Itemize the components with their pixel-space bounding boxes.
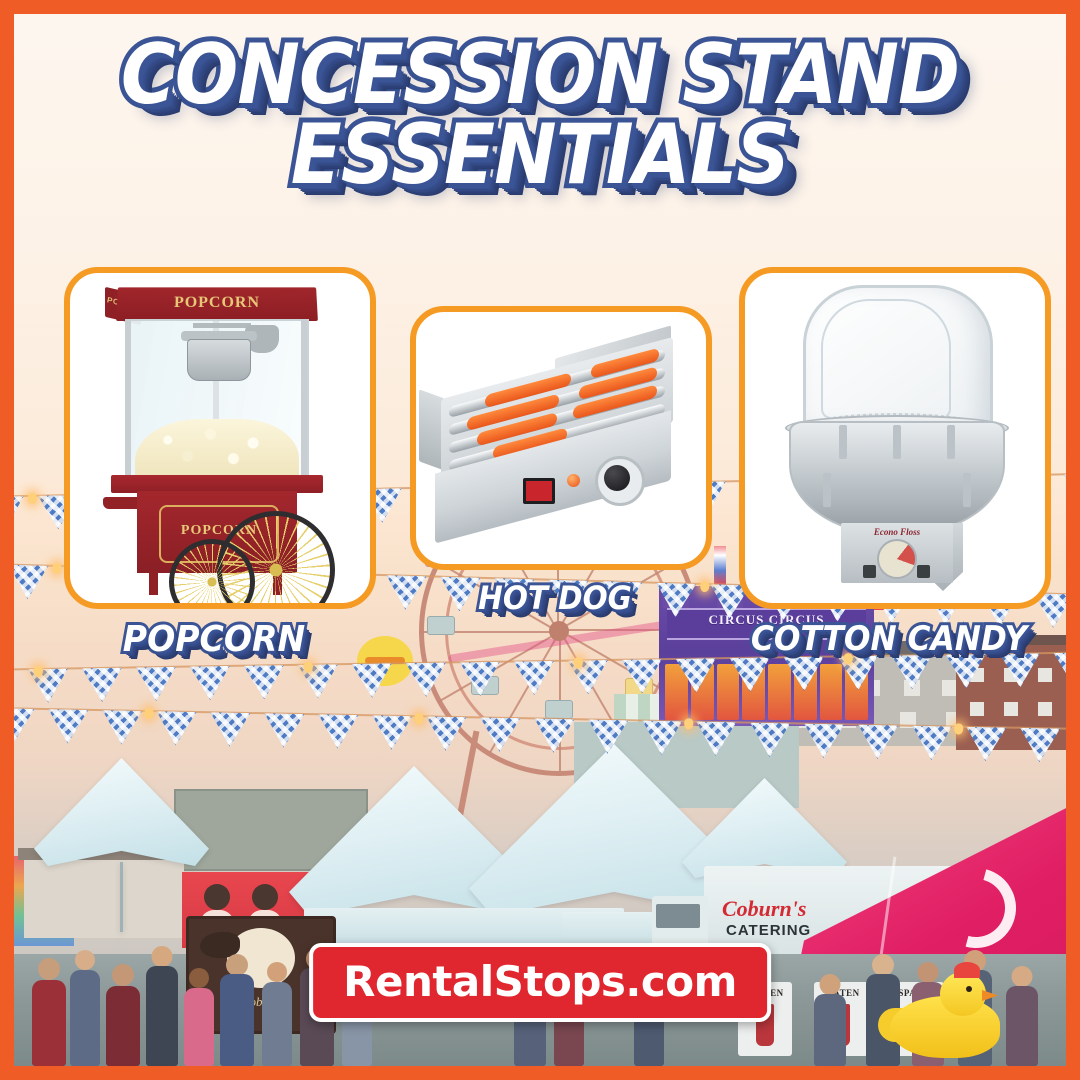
popcorn-top-sign-text: POPCORN — [117, 294, 318, 312]
product-label-hot-dog: HOT DOG — [422, 579, 689, 617]
product-label-cotton-candy: COTTON CANDY — [742, 619, 1036, 659]
hot-dog-roller-icon — [427, 338, 695, 538]
brand-badge-text: RentalStops.com — [343, 957, 737, 1006]
inflatable-chicken — [884, 974, 1004, 1058]
cotton-candy-brand-text: Econo Floss — [841, 527, 953, 537]
popcorn-machine-icon: POPCORN POPCORN POPCORN — [95, 283, 345, 595]
product-card-cotton-candy[interactable]: Econo Floss — [739, 267, 1051, 609]
product-card-hot-dog[interactable] — [410, 306, 712, 570]
cotton-candy-machine-icon: Econo Floss — [777, 285, 1013, 585]
product-label-popcorn: POPCORN — [76, 619, 352, 660]
title-line-2: ESSENTIALS — [67, 116, 1014, 194]
peaked-tent — [682, 778, 847, 878]
brand-badge[interactable]: RentalStops.com — [309, 943, 771, 1022]
product-card-popcorn[interactable]: POPCORN POPCORN POPCORN — [64, 267, 376, 609]
poster-inner: CIRCUS CIRCUS Coburn's CATERING SPATEN S… — [14, 14, 1066, 1066]
promo-poster: CIRCUS CIRCUS Coburn's CATERING SPATEN S… — [0, 0, 1080, 1080]
page-title: CONCESSION STAND ESSENTIALS — [14, 36, 1066, 194]
peaked-tent — [34, 758, 209, 866]
brick-building — [956, 644, 1066, 750]
title-line-1: CONCESSION STAND — [67, 36, 1014, 114]
